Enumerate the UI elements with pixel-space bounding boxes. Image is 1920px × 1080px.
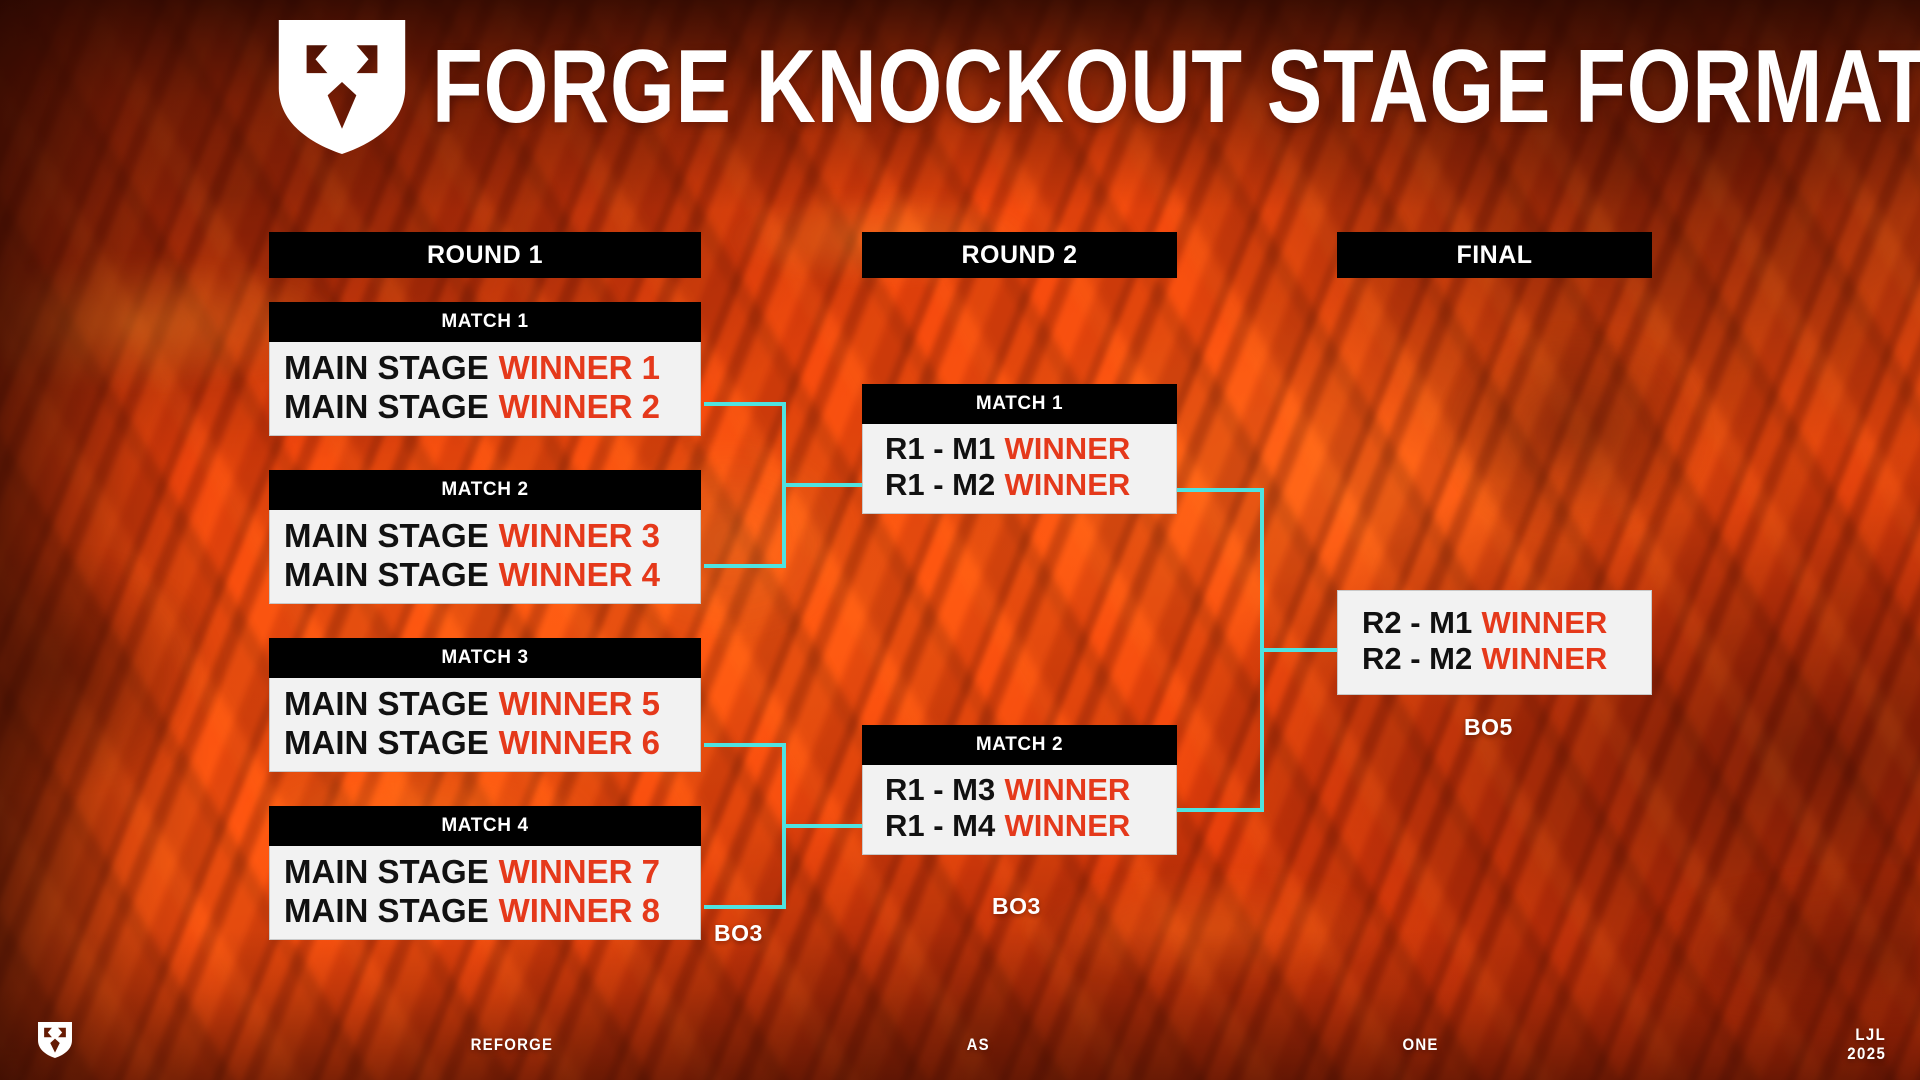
footer-event-name: LJL	[1847, 1025, 1886, 1045]
bo-label-round-1: BO3	[714, 920, 763, 947]
seed-highlight: WINNER	[1005, 772, 1131, 808]
bo-label-final: BO5	[1464, 714, 1513, 741]
seed-prefix: MAIN STAGE	[284, 853, 489, 892]
seed-row: R1 - M2 WINNER	[863, 467, 1176, 503]
match-body-r2-m1: R1 - M1 WINNER R1 - M2 WINNER	[862, 424, 1177, 514]
seed-row: MAIN STAGE WINNER 6	[270, 724, 700, 763]
match-card-r2-m2[interactable]: MATCH 2 R1 - M3 WINNER R1 - M4 WINNER	[862, 725, 1177, 855]
seed-row: MAIN STAGE WINNER 7	[270, 853, 700, 892]
seed-highlight: WINNER 1	[499, 349, 660, 388]
footer-event-year: 2025	[1847, 1044, 1886, 1064]
seed-row: MAIN STAGE WINNER 8	[270, 892, 700, 931]
seed-row: R2 - M1 WINNER	[1338, 605, 1651, 641]
footer-event-block: LJL 2025	[1847, 1025, 1886, 1064]
seed-highlight: WINNER 2	[499, 388, 660, 427]
match-card-r1-m3[interactable]: MATCH 3 MAIN STAGE WINNER 5 MAIN STAGE W…	[269, 638, 701, 772]
forge-shield-logo-icon	[278, 20, 406, 154]
match-card-r1-m2[interactable]: MATCH 2 MAIN STAGE WINNER 3 MAIN STAGE W…	[269, 470, 701, 604]
seed-prefix: MAIN STAGE	[284, 388, 489, 427]
match-body-r1-m4: MAIN STAGE WINNER 7 MAIN STAGE WINNER 8	[269, 846, 701, 940]
seed-highlight: WINNER 7	[499, 853, 660, 892]
footer-bar: REFORGE AS ONE LJL 2025	[0, 990, 1920, 1080]
seed-prefix: MAIN STAGE	[284, 892, 489, 931]
match-title-r2-m2: MATCH 2	[862, 725, 1177, 765]
match-body-final: R2 - M1 WINNER R2 - M2 WINNER	[1337, 590, 1652, 695]
seed-prefix: R1 - M3	[885, 772, 995, 808]
seed-highlight: WINNER 5	[499, 685, 660, 724]
seed-row: R2 - M2 WINNER	[1338, 641, 1651, 677]
seed-row: MAIN STAGE WINNER 2	[270, 388, 700, 427]
seed-highlight: WINNER 6	[499, 724, 660, 763]
match-card-r1-m4[interactable]: MATCH 4 MAIN STAGE WINNER 7 MAIN STAGE W…	[269, 806, 701, 940]
match-title-r1-m1: MATCH 1	[269, 302, 701, 342]
page-title-row: FORGE KNOCKOUT STAGE FORMAT	[278, 20, 1920, 154]
match-body-r1-m3: MAIN STAGE WINNER 5 MAIN STAGE WINNER 6	[269, 678, 701, 772]
footer-word-one: ONE	[1402, 1035, 1438, 1055]
match-body-r2-m2: R1 - M3 WINNER R1 - M4 WINNER	[862, 765, 1177, 855]
match-title-r2-m1: MATCH 1	[862, 384, 1177, 424]
match-body-r1-m1: MAIN STAGE WINNER 1 MAIN STAGE WINNER 2	[269, 342, 701, 436]
seed-highlight: WINNER	[1005, 467, 1131, 503]
forge-shield-logo-icon	[38, 1022, 72, 1058]
seed-highlight: WINNER 4	[499, 556, 660, 595]
seed-highlight: WINNER	[1482, 605, 1608, 641]
seed-prefix: MAIN STAGE	[284, 556, 489, 595]
seed-prefix: R1 - M2	[885, 467, 995, 503]
match-card-r2-m1[interactable]: MATCH 1 R1 - M1 WINNER R1 - M2 WINNER	[862, 384, 1177, 514]
seed-prefix: R1 - M4	[885, 808, 995, 844]
seed-highlight: WINNER	[1005, 431, 1131, 467]
seed-row: R1 - M3 WINNER	[863, 772, 1176, 808]
seed-row: R1 - M1 WINNER	[863, 431, 1176, 467]
seed-prefix: MAIN STAGE	[284, 349, 489, 388]
round-header-final: FINAL	[1337, 232, 1652, 278]
seed-highlight: WINNER	[1005, 808, 1131, 844]
seed-highlight: WINNER	[1482, 641, 1608, 677]
seed-highlight: WINNER 3	[499, 517, 660, 556]
seed-row: MAIN STAGE WINNER 1	[270, 349, 700, 388]
bo-label-round-2: BO3	[992, 893, 1041, 920]
page-title: FORGE KNOCKOUT STAGE FORMAT	[432, 35, 1920, 139]
seed-prefix: R2 - M1	[1362, 605, 1472, 641]
seed-row: R1 - M4 WINNER	[863, 808, 1176, 844]
match-title-r1-m4: MATCH 4	[269, 806, 701, 846]
seed-prefix: MAIN STAGE	[284, 685, 489, 724]
bracket-area: ROUND 1 MATCH 1 MAIN STAGE WINNER 1 MAIN…	[0, 0, 1920, 1080]
match-title-r1-m3: MATCH 3	[269, 638, 701, 678]
seed-prefix: R2 - M2	[1362, 641, 1472, 677]
seed-prefix: MAIN STAGE	[284, 724, 489, 763]
match-card-final[interactable]: R2 - M1 WINNER R2 - M2 WINNER	[1337, 590, 1652, 695]
footer-word-reforge: REFORGE	[471, 1035, 554, 1055]
seed-prefix: R1 - M1	[885, 431, 995, 467]
seed-highlight: WINNER 8	[499, 892, 660, 931]
seed-row: MAIN STAGE WINNER 4	[270, 556, 700, 595]
round-header-round-1: ROUND 1	[269, 232, 701, 278]
match-title-r1-m2: MATCH 2	[269, 470, 701, 510]
seed-prefix: MAIN STAGE	[284, 517, 489, 556]
round-header-round-2: ROUND 2	[862, 232, 1177, 278]
match-card-r1-m1[interactable]: MATCH 1 MAIN STAGE WINNER 1 MAIN STAGE W…	[269, 302, 701, 436]
seed-row: MAIN STAGE WINNER 3	[270, 517, 700, 556]
infographic-canvas: FORGE KNOCKOUT STAGE FORMAT ROUND 1 MATC…	[0, 0, 1920, 1080]
match-body-r1-m2: MAIN STAGE WINNER 3 MAIN STAGE WINNER 4	[269, 510, 701, 604]
footer-word-as: AS	[967, 1035, 990, 1055]
seed-row: MAIN STAGE WINNER 5	[270, 685, 700, 724]
